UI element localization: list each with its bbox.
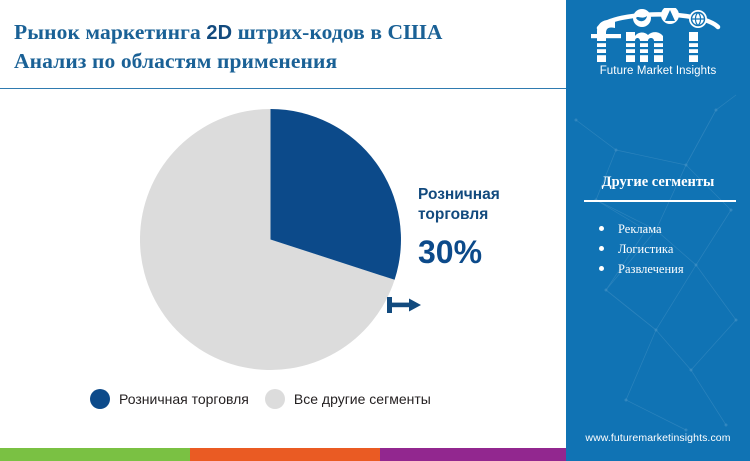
brand-logo[interactable]: Future Market Insights bbox=[566, 8, 750, 77]
list-item: Реклама bbox=[596, 219, 746, 239]
legend-label: Все другие сегменты bbox=[294, 391, 431, 407]
legend-item-retail[interactable]: Розничная торговля bbox=[90, 389, 249, 409]
callout-value: 30% bbox=[418, 233, 558, 271]
callout-label-line-1: Розничная bbox=[418, 185, 558, 205]
legend-swatch-icon bbox=[90, 389, 110, 409]
bullet-icon bbox=[599, 226, 604, 231]
legend-swatch-icon bbox=[265, 389, 285, 409]
title-part-a: Рынок маркетинга bbox=[14, 20, 206, 44]
bar-segment-orange bbox=[190, 448, 380, 461]
title-part-c: штрих-кодов в США bbox=[232, 20, 442, 44]
other-segments-list: Реклама Логистика Развлечения bbox=[596, 219, 746, 279]
page-title: Рынок маркетинга 2D штрих-кодов в США Ан… bbox=[14, 18, 554, 75]
header: Рынок маркетинга 2D штрих-кодов в США Ан… bbox=[0, 0, 566, 90]
list-item: Развлечения bbox=[596, 259, 746, 279]
fmi-logo-icon bbox=[585, 8, 731, 64]
list-item-label: Логистика bbox=[618, 242, 673, 256]
legend-label: Розничная торговля bbox=[119, 391, 249, 407]
title-accent-2d: 2D bbox=[206, 22, 232, 44]
legend-item-other-segments[interactable]: Все другие сегменты bbox=[265, 389, 431, 409]
list-item-label: Развлечения bbox=[618, 262, 684, 276]
bar-segment-green bbox=[0, 448, 190, 461]
callout-arrow-icon bbox=[387, 293, 423, 317]
title-line-1: Рынок маркетинга 2D штрих-кодов в США bbox=[14, 18, 554, 47]
bullet-icon bbox=[599, 246, 604, 251]
bottom-color-bar bbox=[0, 448, 566, 461]
bullet-icon bbox=[599, 266, 604, 271]
title-line-2: Анализ по областям применения bbox=[14, 47, 554, 75]
pie-chart bbox=[140, 109, 401, 370]
chart-area: Розничная торговля 30% Розничная торговл… bbox=[0, 90, 566, 461]
chart-legend: Розничная торговля Все другие сегменты bbox=[90, 389, 431, 409]
bar-segment-purple bbox=[380, 448, 566, 461]
website-url[interactable]: www.futuremarketinsights.com bbox=[566, 432, 750, 444]
other-segments-heading: Другие сегменты bbox=[566, 174, 750, 191]
callout-retail: Розничная торговля 30% bbox=[418, 185, 558, 271]
callout-label-line-2: торговля bbox=[418, 205, 558, 225]
side-panel-divider bbox=[584, 200, 736, 202]
logo-tagline: Future Market Insights bbox=[566, 65, 750, 77]
list-item-label: Реклама bbox=[618, 222, 662, 236]
side-panel: Future Market Insights Другие сегменты Р… bbox=[566, 0, 750, 461]
list-item: Логистика bbox=[596, 239, 746, 259]
header-divider bbox=[0, 88, 566, 89]
slide-root: Рынок маркетинга 2D штрих-кодов в США Ан… bbox=[0, 0, 750, 461]
